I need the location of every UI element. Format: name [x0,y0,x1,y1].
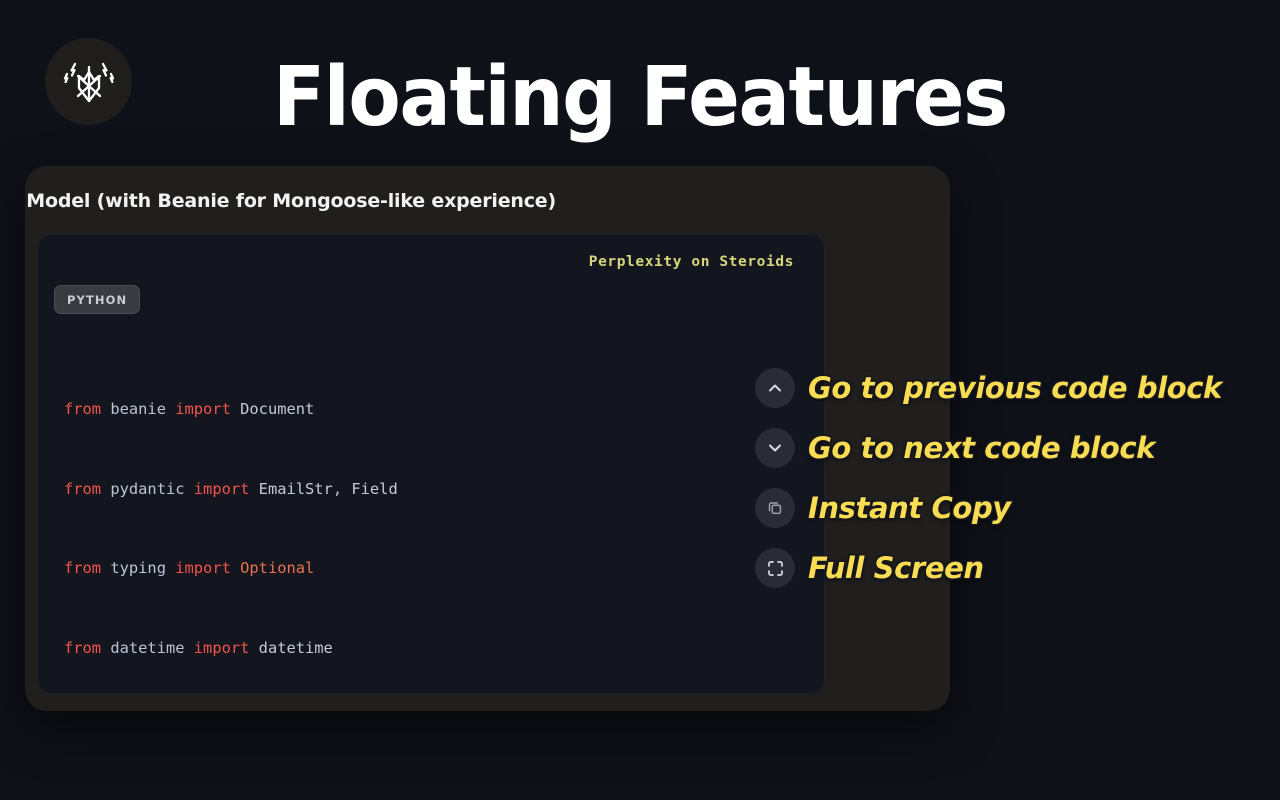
card-header-title: er Model (with Beanie for Mongoose-like … [24,188,954,214]
feature-label: Full Screen [808,551,984,585]
feature-row-instant-copy[interactable]: Instant Copy [755,478,1275,538]
copy-icon [766,499,784,517]
feature-row-full-screen[interactable]: Full Screen [755,538,1275,598]
code-block-panel: Perplexity on Steroids PYTHON from beani… [37,234,825,694]
panel-watermark: Perplexity on Steroids [589,254,794,270]
page-title: Floating Features [45,52,1235,144]
feature-row-previous-code-block[interactable]: Go to previous code block [755,358,1275,418]
code-line: from datetime import datetime [64,635,824,662]
full-screen-button[interactable] [755,548,795,588]
code-fade-overlay [38,659,824,693]
fullscreen-icon [766,559,785,578]
feature-label: Go to previous code block [808,371,1222,405]
language-badge[interactable]: PYTHON [54,285,140,314]
floating-feature-list: Go to previous code block Go to next cod… [755,358,1275,598]
code-content[interactable]: from beanie import Document from pydanti… [64,343,824,694]
feature-row-next-code-block[interactable]: Go to next code block [755,418,1275,478]
feature-label: Instant Copy [808,491,1011,525]
chevron-up-icon [766,379,784,397]
feature-label: Go to next code block [808,431,1155,465]
next-code-block-button[interactable] [755,428,795,468]
slide-canvas: Floating Features er Model (with Beanie … [0,0,1280,800]
chevron-down-icon [766,439,784,457]
instant-copy-button[interactable] [755,488,795,528]
code-line: from typing import Optional [64,555,824,582]
code-line: from pydantic import EmailStr, Field [64,476,824,503]
previous-code-block-button[interactable] [755,368,795,408]
code-line: from beanie import Document [64,396,824,423]
